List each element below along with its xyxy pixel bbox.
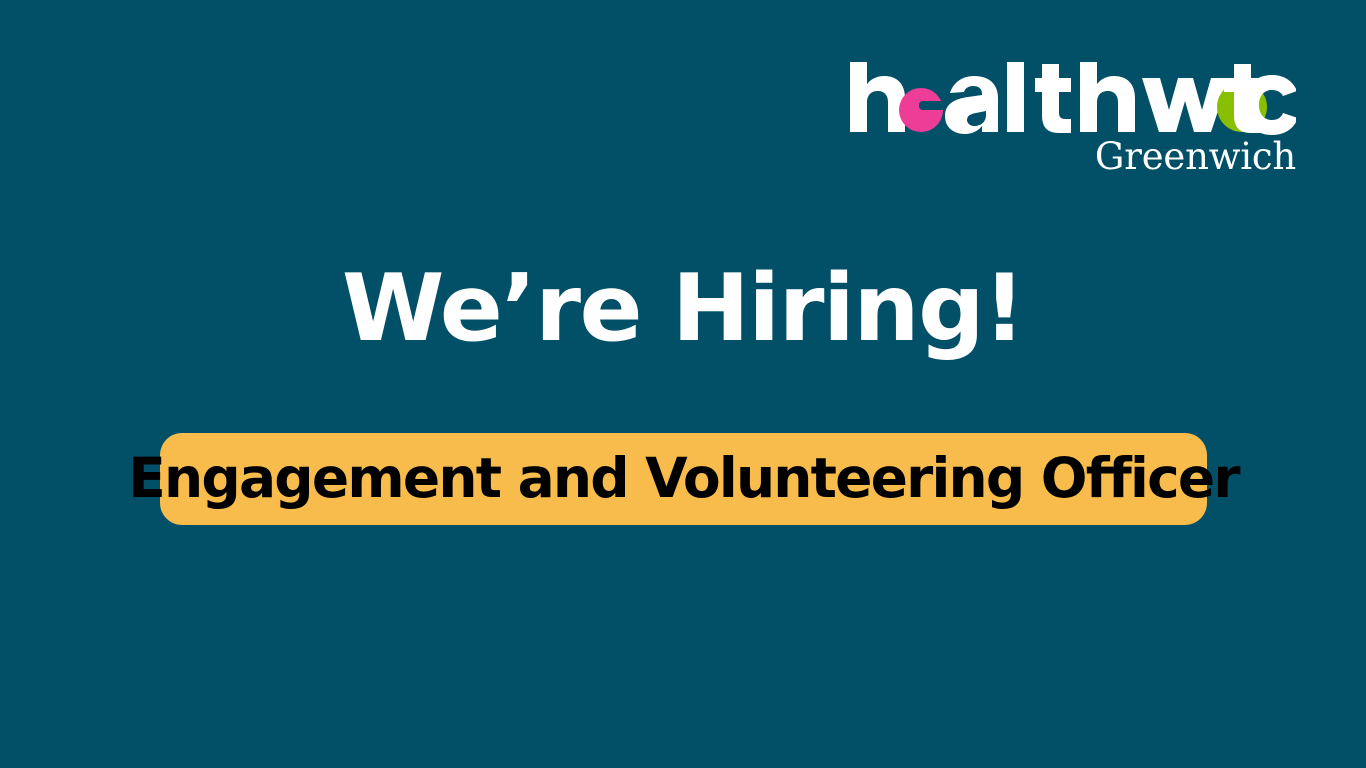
logo-locality-label: Greenwich bbox=[1095, 134, 1296, 180]
job-role-title: Engagement and Volunteering Officer bbox=[128, 448, 1238, 508]
page-title: We’re Hiring! bbox=[0, 258, 1366, 358]
healthwatch-greenwich-logo: Greenwich bbox=[846, 60, 1296, 180]
recruitment-poster: Greenwich We’re Hiring! Engagement and V… bbox=[0, 0, 1366, 768]
healthwatch-wordmark-icon bbox=[846, 60, 1296, 136]
job-role-banner: Engagement and Volunteering Officer bbox=[160, 433, 1207, 525]
